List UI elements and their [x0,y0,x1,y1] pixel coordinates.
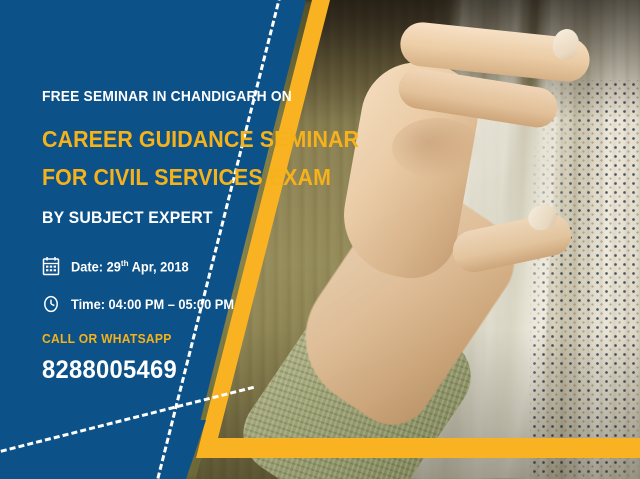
date-suffix: Apr, 2018 [129,259,189,274]
date-label: Date: 29th Apr, 2018 [71,258,189,275]
banner-content: FREE SEMINAR IN CHANDIGARH ON CAREER GUI… [42,0,292,479]
phone-number[interactable]: 8288005469 [42,356,177,385]
detail-row-time: Time: 04:00 PM – 05:00 PM [42,294,243,314]
time-label: Time: 04:00 PM – 05:00 PM [71,297,234,312]
eyebrow-text: FREE SEMINAR IN CHANDIGARH ON [42,88,292,105]
date-ordinal-suffix: th [121,258,129,268]
detail-row-date: Date: 29th Apr, 2018 [42,256,195,276]
date-prefix: Date: 29 [71,259,121,274]
call-or-whatsapp-label: CALL OR WHATSAPP [42,331,172,346]
headline: CAREER GUIDANCE SEMINAR FOR CIVIL SERVIC… [42,120,383,196]
clock-icon [42,294,60,314]
headline-line-1: CAREER GUIDANCE SEMINAR [42,120,359,158]
byline-text: BY SUBJECT EXPERT [42,208,213,228]
seminar-banner: FREE SEMINAR IN CHANDIGARH ON CAREER GUI… [0,0,640,479]
headline-line-2: FOR CIVIL SERVICES EXAM [42,158,359,196]
knuckle-shading [392,118,482,178]
calendar-icon [42,256,60,276]
